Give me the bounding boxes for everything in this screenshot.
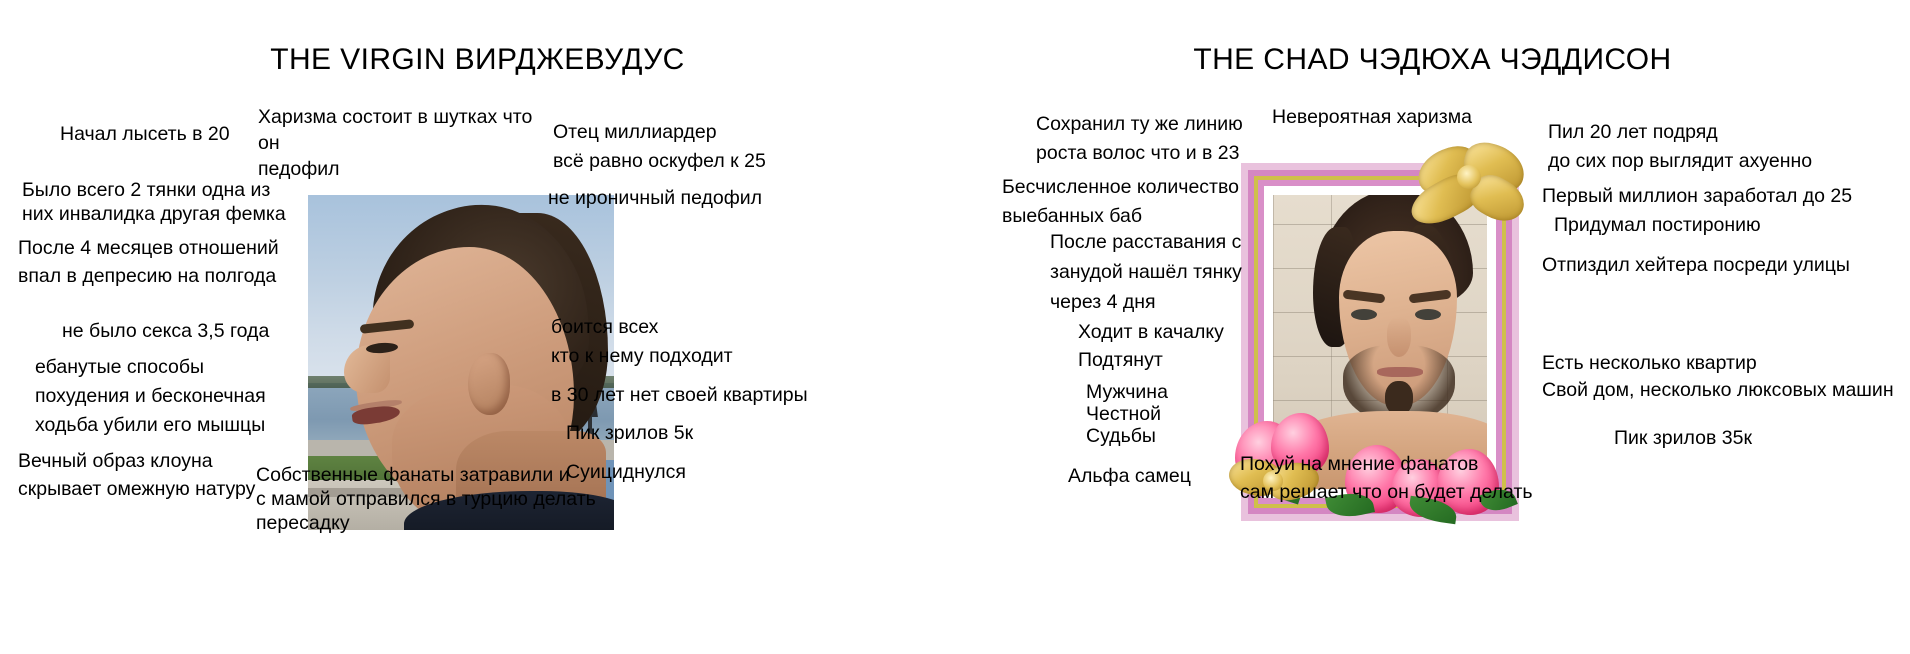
label-peak-viewers: Пик зрилов 5к (566, 420, 693, 446)
label-drinking: Пил 20 лет подряд до сих пор выглядит ах… (1548, 118, 1812, 176)
chad-panel-title: THE CHAD ЧЭДЮХА ЧЭДДИСОН (955, 43, 1910, 77)
label-peak-viewers: Пик зрилов 35к (1614, 425, 1752, 451)
photo-goatee (1385, 381, 1413, 415)
label-fans-turkey: Собственные фанаты затравили и с мамой о… (256, 463, 596, 535)
photo-mouth (1377, 367, 1423, 377)
label-weightloss: ебанутые способы похудения и бесконечная… (35, 353, 266, 440)
label-first-million: Первый миллион заработал до 25 (1542, 183, 1852, 209)
label-father: Отец миллиардер всё равно оскуфел к 25 (553, 118, 766, 176)
label-balding: Начал лысеть в 20 (60, 121, 230, 147)
label-afraid: боится всех кто к нему подходит (551, 313, 733, 371)
photo-ear (468, 353, 510, 415)
virgin-panel-title: THE VIRGIN ВИРДЖЕВУДУС (0, 43, 955, 77)
label-depression: После 4 месяцев отношений впал в депреси… (18, 234, 279, 290)
virgin-panel: THE VIRGIN ВИРДЖЕВУДУС Харизма состоит в… (0, 0, 955, 654)
label-charisma: Харизма состоит в шутках что он педофил (258, 104, 548, 182)
label-clown: Вечный образ клоуна скрывает омежную нат… (18, 447, 255, 503)
photo-eye-left (1351, 309, 1377, 320)
label-beat-hater: Отпиздил хейтера посреди улицы (1542, 252, 1850, 278)
label-gym: Ходит в качалку Подтянут (1078, 318, 1224, 374)
label-countless-women: Бесчисленное количество выебанных баб (1002, 173, 1239, 231)
gold-bow-knot-icon (1457, 165, 1481, 189)
label-dont-care-fans: Похуй на мнение фанатов сам решает что о… (1240, 450, 1533, 506)
label-man-of-fate: Мужчина Честной Судьбы (1086, 381, 1168, 447)
label-hairline: Сохранил ту же линию роста волос что и в… (1036, 110, 1243, 168)
label-girlfriends: Было всего 2 тянки одна из них инвалидка… (22, 178, 286, 226)
label-not-ironic: не ироничный педофил (548, 185, 762, 211)
label-apartments: Есть несколько квартир Свой дом, несколь… (1542, 350, 1894, 404)
label-incredible-charisma: Невероятная харизма (1272, 104, 1472, 130)
label-no-sex: не было секса 3,5 года (62, 318, 269, 344)
photo-eye-right (1415, 309, 1441, 320)
label-postirony: Придумал постиронию (1554, 212, 1761, 238)
label-alpha: Альфа самец (1068, 463, 1191, 489)
label-no-flat: в 30 лет нет своей квартиры (551, 382, 808, 408)
label-new-girl: После расставания с занудой нашёл тянку … (1050, 227, 1242, 317)
